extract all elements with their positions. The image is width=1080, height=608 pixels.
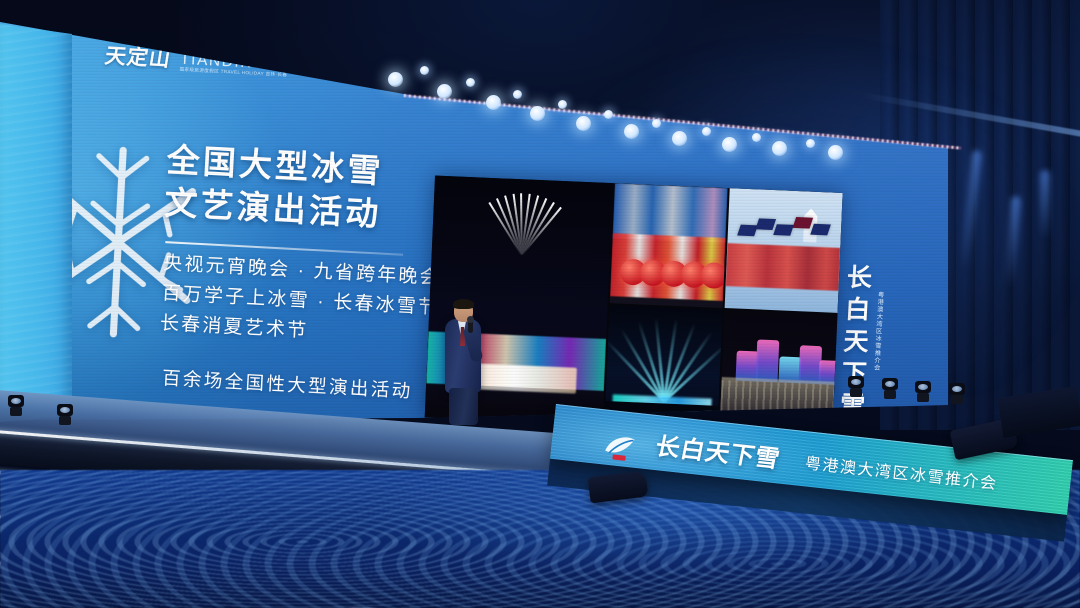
moving-head-light (915, 381, 931, 402)
header-subtitle: 长春冰雪新天地 (346, 62, 462, 89)
moving-head-light (882, 378, 898, 399)
stage-photo-scene: 天定山 TIANDINGSHAN 国家级旅游度假区 TRAVEL HOLIDAY… (0, 0, 1080, 608)
moving-head-light (848, 376, 864, 397)
moving-head-light (57, 404, 73, 425)
handheld-microphone-icon (468, 320, 473, 333)
moving-head-light (949, 383, 965, 404)
led-screen-left-wing (0, 18, 72, 422)
header-divider (331, 64, 333, 80)
moving-head-light (8, 395, 24, 416)
snow-leaf-emblem-icon (598, 430, 641, 464)
light-beam (1040, 170, 1050, 240)
